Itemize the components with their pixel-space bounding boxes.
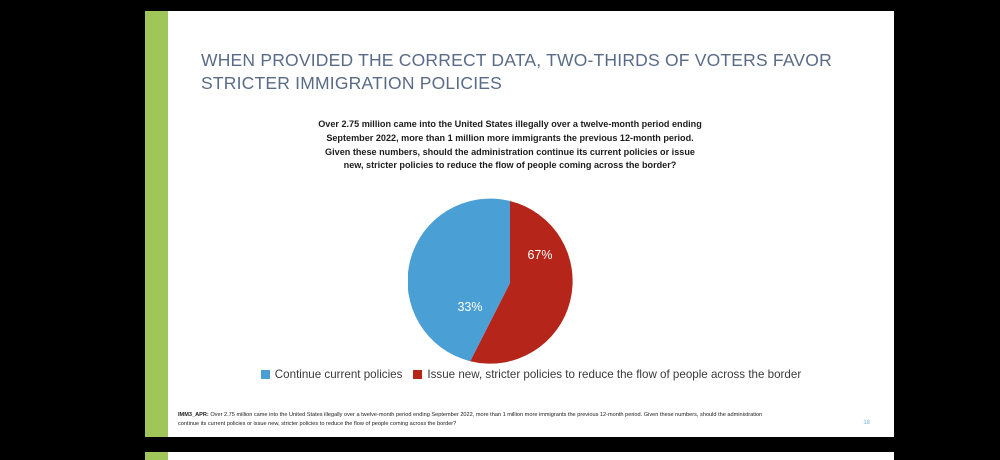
legend-label-stricter-policies: Issue new, stricter policies to reduce t… [427, 368, 801, 381]
pie-chart: 67% 33% [168, 193, 894, 373]
slide-title: WHEN PROVIDED THE CORRECT DATA, TWO-THIR… [201, 49, 841, 95]
legend-swatch-red-icon [413, 370, 422, 379]
legend-swatch-blue-icon [261, 370, 270, 379]
slide-next-accent-bar [145, 452, 168, 460]
pie-slice-label-stricter-policies: 67% [527, 248, 552, 262]
presentation-viewport: WHEN PROVIDED THE CORRECT DATA, TWO-THIR… [0, 0, 1000, 460]
survey-question-text: Over 2.75 million came into the United S… [316, 118, 704, 173]
chart-legend: Continue current policies Issue new, str… [168, 368, 894, 381]
slide-next-preview[interactable] [145, 452, 894, 460]
slide-current[interactable]: WHEN PROVIDED THE CORRECT DATA, TWO-THIR… [145, 11, 894, 437]
pie-slice-label-continue-policies: 33% [457, 300, 482, 314]
footnote-question-text: Over 2.75 million came into the United S… [178, 412, 762, 427]
slide-page-number: 18 [863, 420, 870, 426]
footnote-question-code: IMM3_APR: [178, 412, 209, 418]
pie-chart-svg: 67% 33% [408, 193, 618, 365]
legend-item-continue-policies[interactable]: Continue current policies [261, 368, 403, 381]
slide-accent-bar [145, 11, 168, 437]
slide-content: WHEN PROVIDED THE CORRECT DATA, TWO-THIR… [168, 11, 894, 437]
slide-footnote: IMM3_APR: Over 2.75 million came into th… [178, 411, 768, 429]
legend-item-stricter-policies[interactable]: Issue new, stricter policies to reduce t… [413, 368, 801, 381]
legend-label-continue-policies: Continue current policies [275, 368, 403, 381]
